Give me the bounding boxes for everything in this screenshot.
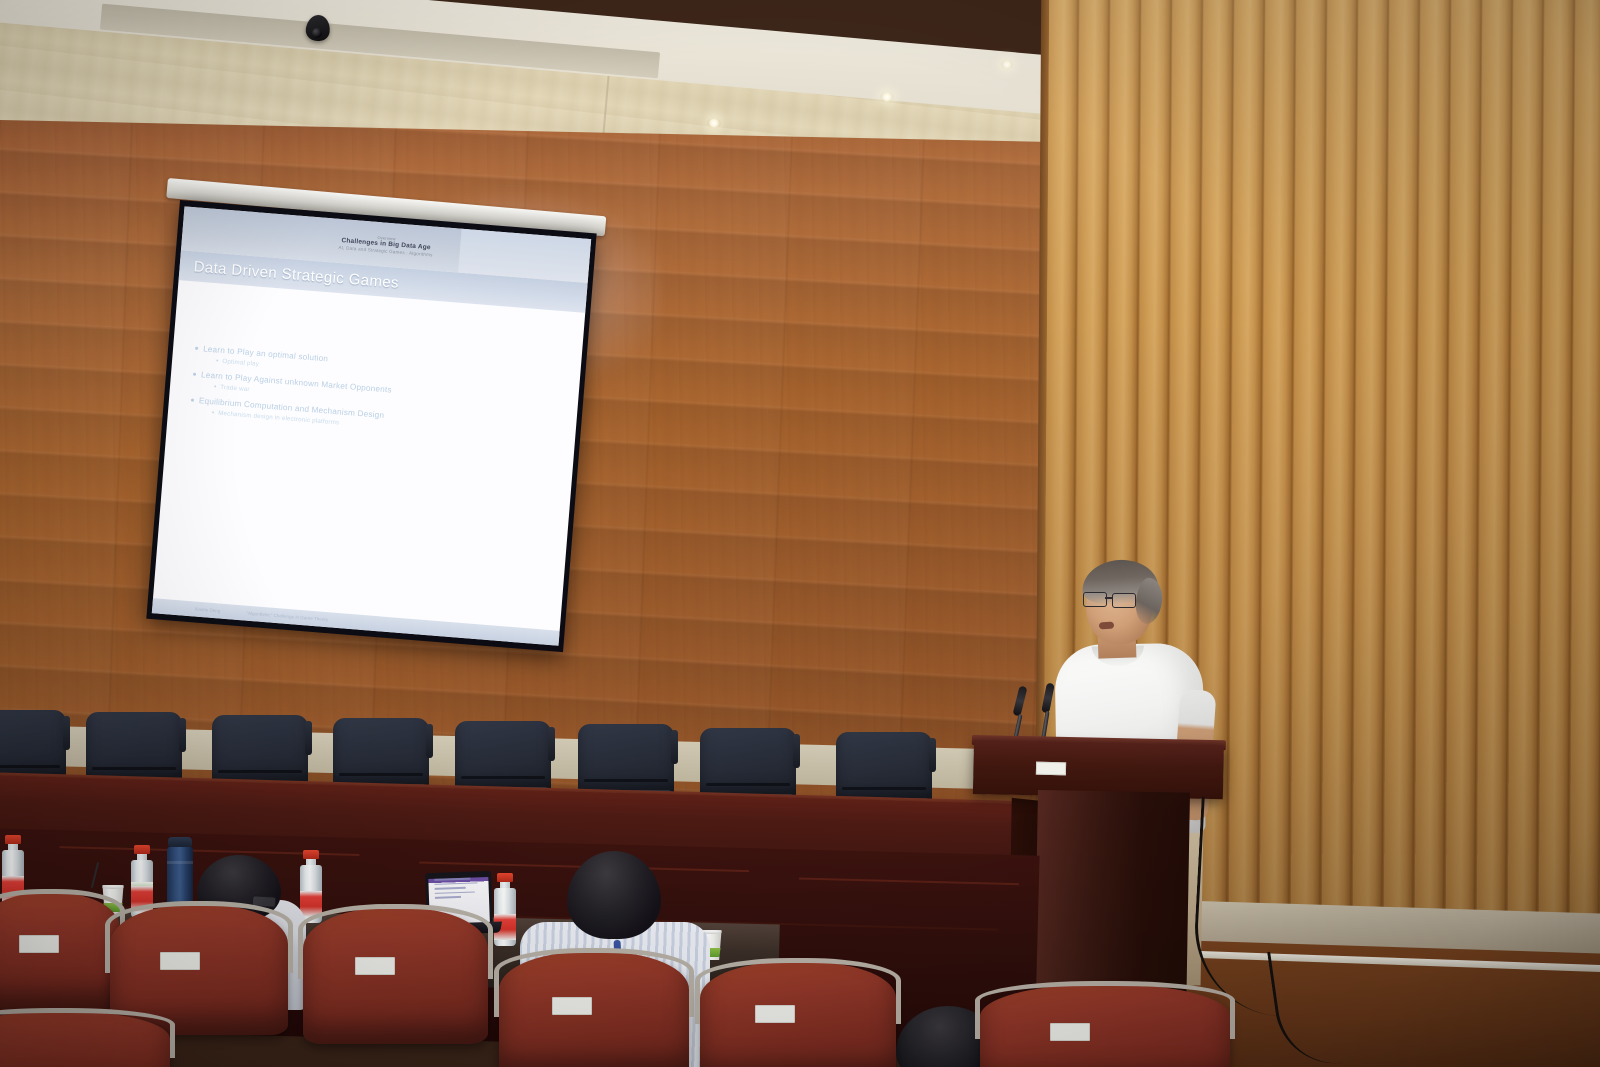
seat-number-tag [552, 997, 592, 1015]
ceiling-downlight [707, 118, 721, 128]
seat-number-tag [355, 957, 395, 975]
ceiling-downlight [1001, 60, 1013, 69]
seat-number-tag [19, 935, 59, 953]
attendee-head [567, 851, 661, 939]
podium-nameplate [1036, 762, 1066, 776]
thermos-bottle[interactable] [167, 837, 193, 907]
audience-seat[interactable] [980, 985, 1230, 1067]
slide-footer-author: Xiaotie Deng [194, 606, 221, 613]
audience-seat[interactable] [700, 962, 896, 1067]
seat-number-tag [160, 952, 200, 970]
seat-number-tag [755, 1005, 795, 1023]
lecture-hall-photo: Overview Challenges in Big Data Age AI, … [0, 0, 1600, 1067]
slide-body: Learn to Play an optimal solution Optima… [153, 280, 585, 631]
ceiling-downlight [880, 92, 894, 102]
slide-subbullet-text: Trade war [220, 384, 250, 393]
audience-seat[interactable] [0, 1012, 170, 1067]
speaker-mouth [1099, 622, 1114, 630]
seat-number-tag [1050, 1023, 1090, 1041]
security-camera-lens-icon [312, 28, 322, 38]
presentation-slide: Overview Challenges in Big Data Age AI, … [152, 206, 591, 645]
audience-seat[interactable] [499, 952, 689, 1067]
water-bottle[interactable] [494, 873, 516, 946]
slide-footer-topic: "Algorithmic" Challenge in Game Theory [246, 611, 328, 623]
slide-subbullet-text: Optimal play [222, 358, 259, 368]
podium-column [1034, 790, 1190, 1003]
projection-screen[interactable]: Overview Challenges in Big Data Age AI, … [146, 200, 596, 652]
audience-seat[interactable] [303, 908, 488, 1044]
speaker-glasses-icon [1083, 592, 1141, 605]
audience-seat[interactable] [0, 893, 120, 1011]
